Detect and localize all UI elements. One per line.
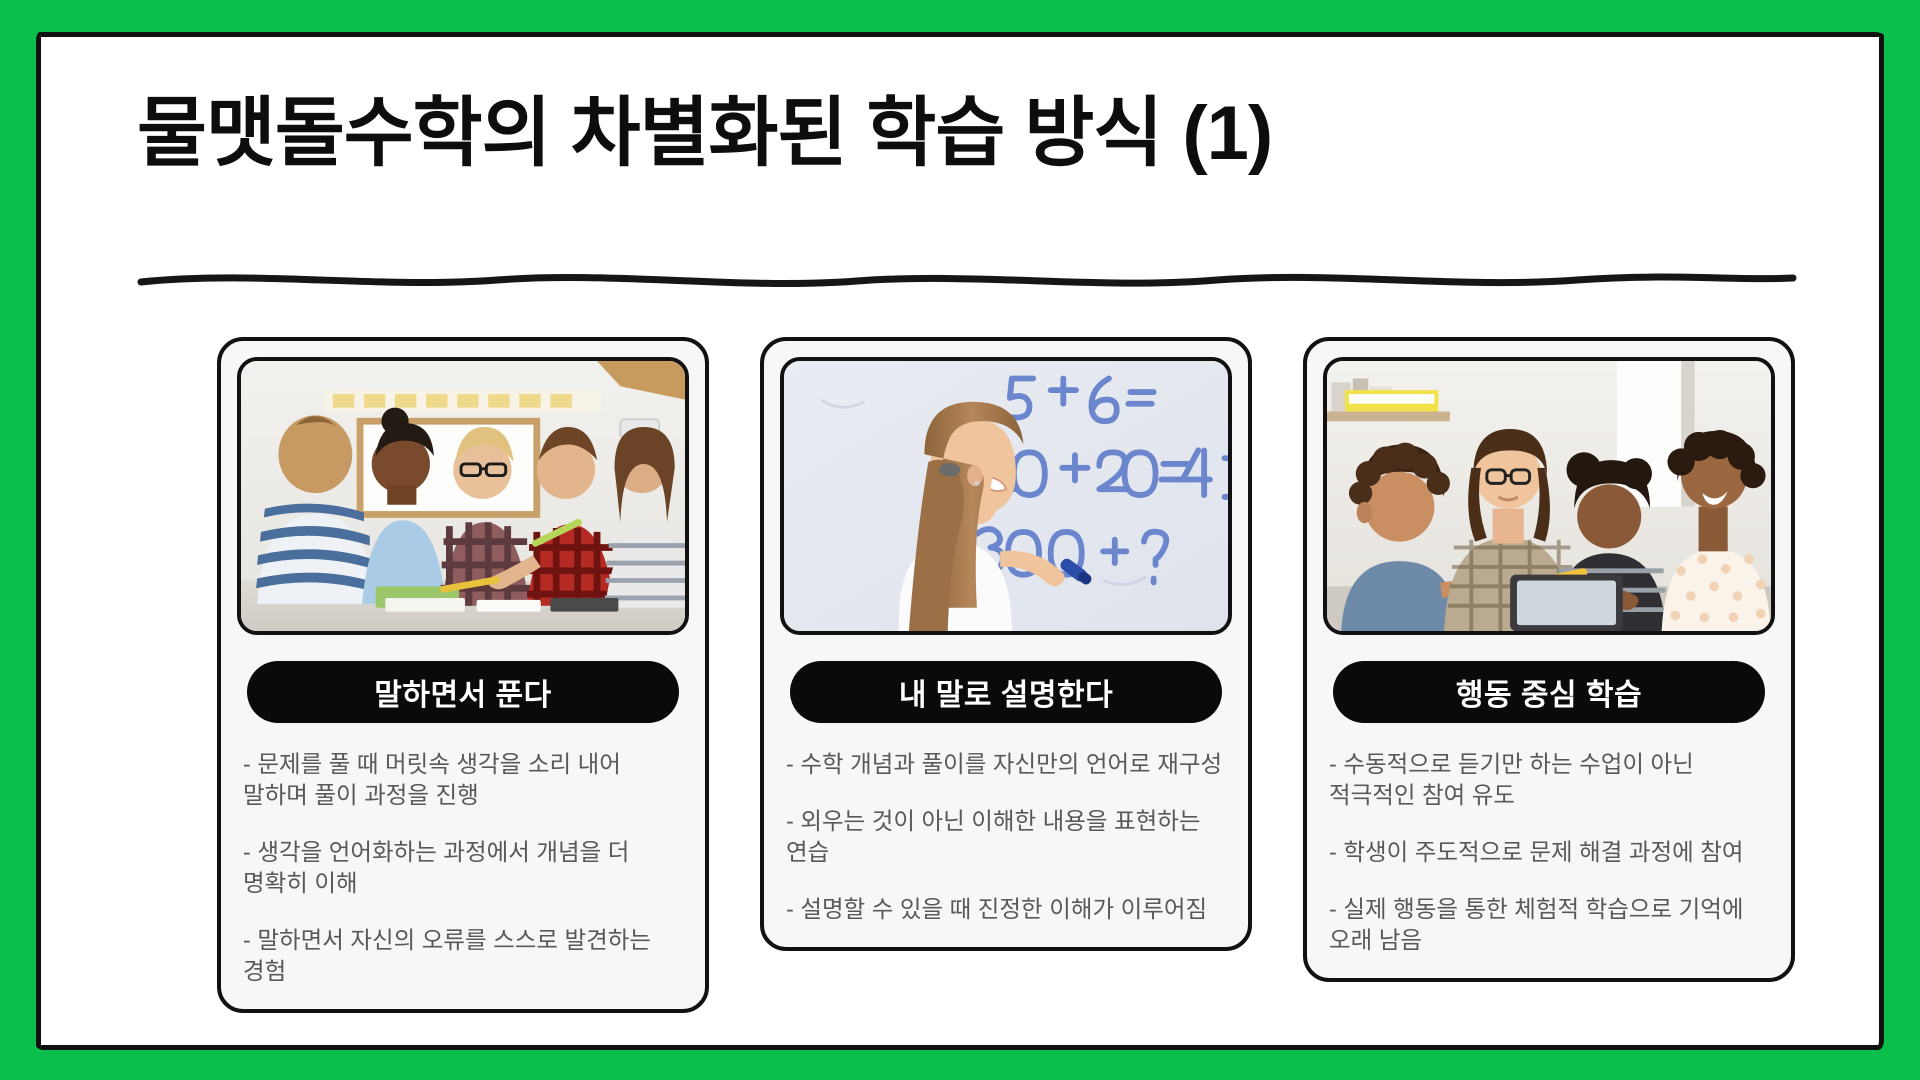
slide-frame: 물맷돌수학의 차별화된 학습 방식 (1) <box>36 32 1884 1050</box>
card-action-centered-learning[interactable]: 행동 중심 학습 - 수동적으로 듣기만 하는 수업이 아닌 적극적인 참여 유… <box>1303 337 1795 982</box>
card-photo-classroom-discussion <box>237 357 689 635</box>
card-pill-label: 행동 중심 학습 <box>1333 661 1765 723</box>
card-bullet: - 생각을 언어화하는 과정에서 개념을 더 명확히 이해 <box>243 837 683 899</box>
card-body: - 수학 개념과 풀이를 자신만의 언어로 재구성 - 외우는 것이 아닌 이해… <box>786 749 1226 925</box>
card-body: - 문제를 풀 때 머릿속 생각을 소리 내어 말하며 풀이 과정을 진행 - … <box>243 749 683 987</box>
card-bullet: - 설명할 수 있을 때 진정한 이해가 이루어짐 <box>786 894 1226 925</box>
page-title: 물맷돌수학의 차별화된 학습 방식 (1) <box>137 89 1837 179</box>
card-body: - 수동적으로 듣기만 하는 수업이 아닌 적극적인 참여 유도 - 학생이 주… <box>1329 749 1769 956</box>
card-explain-in-own-words[interactable]: 내 말로 설명한다 - 수학 개념과 풀이를 자신만의 언어로 재구성 - 외우… <box>760 337 1252 951</box>
card-bullet: - 학생이 주도적으로 문제 해결 과정에 참여 <box>1329 837 1769 868</box>
cards-row: 말하면서 푼다 - 문제를 풀 때 머릿속 생각을 소리 내어 말하며 풀이 과… <box>217 337 1795 1013</box>
card-bullet: - 수학 개념과 풀이를 자신만의 언어로 재구성 <box>786 749 1226 780</box>
card-photo-teacher-with-tablet <box>1323 357 1775 635</box>
card-bullet: - 외우는 것이 아닌 이해한 내용을 표현하는 연습 <box>786 806 1226 868</box>
card-bullet: - 실제 행동을 통한 체험적 학습으로 기억에 오래 남음 <box>1329 894 1769 956</box>
card-speak-while-solving[interactable]: 말하면서 푼다 - 문제를 풀 때 머릿속 생각을 소리 내어 말하며 풀이 과… <box>217 337 709 1013</box>
card-bullet: - 말하면서 자신의 오류를 스스로 발견하는 경험 <box>243 925 683 987</box>
card-bullet: - 문제를 풀 때 머릿속 생각을 소리 내어 말하며 풀이 과정을 진행 <box>243 749 683 811</box>
card-pill-label: 말하면서 푼다 <box>247 661 679 723</box>
title-divider <box>137 265 1797 295</box>
card-bullet: - 수동적으로 듣기만 하는 수업이 아닌 적극적인 참여 유도 <box>1329 749 1769 811</box>
card-pill-label: 내 말로 설명한다 <box>790 661 1222 723</box>
title-block: 물맷돌수학의 차별화된 학습 방식 (1) <box>137 89 1837 179</box>
card-photo-whiteboard-math <box>780 357 1232 635</box>
